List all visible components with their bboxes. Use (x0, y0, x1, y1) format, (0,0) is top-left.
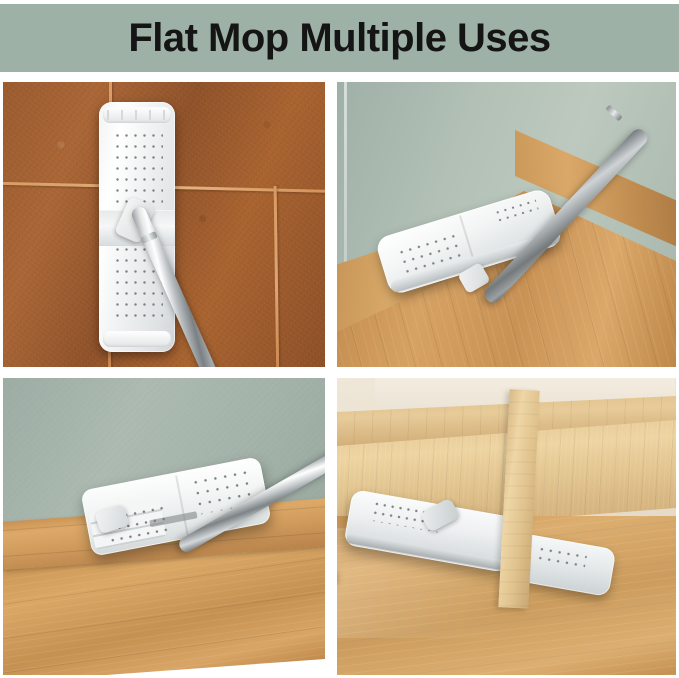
mop-head-seam (175, 475, 189, 535)
scene-under-furniture (337, 378, 676, 675)
panel-corners: Corners (337, 82, 676, 367)
mop-head-slots-top (107, 110, 167, 120)
scene-baseboard (3, 378, 325, 675)
mop-head-lip-bottom (103, 331, 171, 347)
panel-walls-windows: Walls/Windows (3, 82, 325, 367)
panel-under-furniture: Under Furniture (337, 378, 676, 675)
product-infographic-poster: Flat Mop Multiple Uses (0, 0, 679, 678)
scene-tile-wall (3, 82, 325, 367)
panel-baseboard: Baseboard (3, 378, 325, 675)
scene-room-corner (337, 82, 676, 367)
page-title: Flat Mop Multiple Uses (128, 18, 550, 58)
mop-head-perforations-far (535, 544, 587, 570)
wall-corner-edge (344, 82, 347, 282)
mop-head-perforations-secondary (493, 197, 540, 225)
title-banner: Flat Mop Multiple Uses (0, 4, 679, 72)
mop-head-perforations-top (113, 130, 163, 210)
